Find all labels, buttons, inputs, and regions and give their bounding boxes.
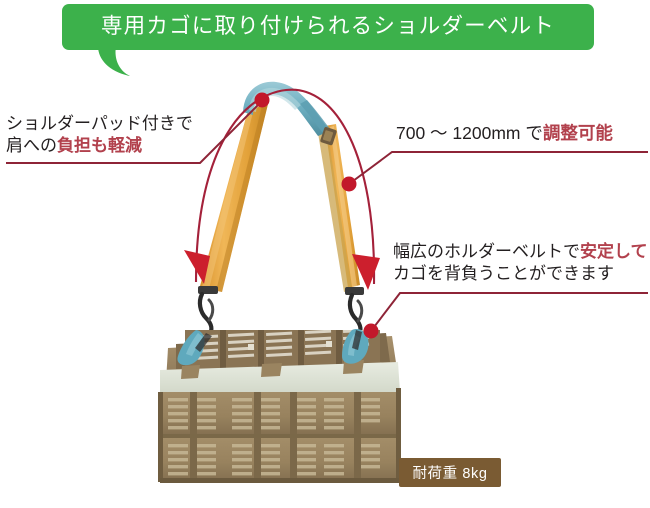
marker-dot-length-range bbox=[342, 177, 357, 192]
left-shoulder-strap bbox=[200, 104, 268, 292]
load-capacity-badge: 耐荷重 8kg bbox=[399, 458, 501, 487]
crate-cream-band bbox=[160, 362, 400, 398]
header-banner: 専用カゴに取り付けられるショルダーベルト bbox=[62, 4, 594, 54]
annotation-shoulder-pad: ショルダーパッド付きで 肩への負担も軽減 bbox=[6, 113, 193, 157]
annotation-length-range: 700 ～ 1200mm で調整可能 bbox=[396, 122, 613, 144]
leader-length-range bbox=[349, 152, 648, 184]
leader-holder-belt bbox=[371, 293, 648, 331]
folding-crate bbox=[158, 325, 401, 483]
speech-bubble-tail-icon bbox=[96, 46, 146, 78]
annotation-holder-belt-line1: 幅広のホルダーベルトで安定して bbox=[393, 241, 648, 263]
annotation-shoulder-pad-line2: 肩への負担も軽減 bbox=[6, 135, 193, 157]
annotation-holder-belt-line2: カゴを背負うことができます bbox=[393, 263, 648, 285]
length-measure-arc bbox=[196, 90, 374, 284]
header-banner-text: 専用カゴに取り付けられるショルダーベルト bbox=[101, 16, 555, 38]
annotation-shoulder-pad-line1: ショルダーパッド付きで bbox=[6, 113, 193, 135]
right-carabiner-hook bbox=[345, 287, 364, 336]
left-measure-arrowhead bbox=[184, 250, 210, 284]
header-banner-body: 専用カゴに取り付けられるショルダーベルト bbox=[62, 4, 594, 50]
load-capacity-label: 耐荷重 8kg bbox=[412, 462, 487, 483]
crate-lower-lattice bbox=[168, 438, 380, 482]
left-holder-belt bbox=[177, 330, 204, 365]
annotation-length-range-line1: 700 ～ 1200mm で調整可能 bbox=[396, 122, 613, 144]
crate-upper-lattice bbox=[168, 392, 380, 436]
strap-buckle bbox=[320, 127, 337, 146]
right-measure-arrowhead bbox=[352, 254, 380, 290]
annotation-holder-belt: 幅広のホルダーベルトで安定して カゴを背負うことができます bbox=[393, 241, 648, 285]
shoulder-pad bbox=[243, 82, 330, 136]
marker-dot-shoulder-pad bbox=[255, 93, 270, 108]
marker-dot-holder-belt bbox=[364, 324, 379, 339]
right-holder-belt bbox=[342, 329, 369, 364]
left-carabiner-hook bbox=[198, 286, 218, 335]
infographic-canvas: 専用カゴに取り付けられるショルダーベルト ショルダーパッド付きで 肩への負担も軽… bbox=[0, 0, 650, 508]
crate-inner-slats bbox=[185, 325, 380, 372]
right-shoulder-strap bbox=[318, 124, 360, 292]
